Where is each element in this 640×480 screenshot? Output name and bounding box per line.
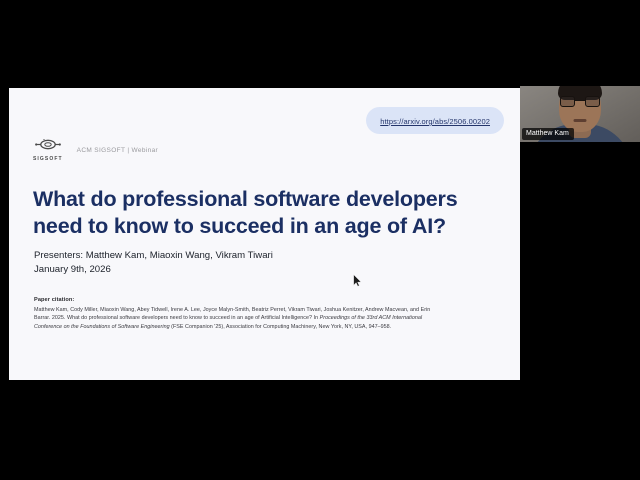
webcam-tile-matthew-kam[interactable]: Matthew Kam (520, 72, 640, 162)
sigsoft-mark-icon (35, 138, 61, 156)
brand-row: SIGSOFT ACM SIGSOFT | Webinar (33, 138, 158, 162)
mouse-pointer-icon (353, 274, 362, 287)
shared-slide[interactable]: https://arxiv.org/abs/2506.00202 SIGSOFT (9, 88, 520, 380)
presenters-line: Presenters: Matthew Kam, Miaoxin Wang, V… (34, 249, 273, 263)
webcam-letterbox-bottom (520, 142, 640, 162)
participant-name-label: Matthew Kam (522, 128, 574, 140)
citation-block: Paper citation: Matthew Kam, Cody Miller… (34, 297, 434, 332)
video-conference-stage: https://arxiv.org/abs/2506.00202 SIGSOFT (0, 0, 640, 480)
participant-mouth (574, 119, 587, 122)
presenters-block: Presenters: Matthew Kam, Miaoxin Wang, V… (34, 249, 273, 276)
citation-body: Matthew Kam, Cody Miller, Miaoxin Wang, … (34, 306, 434, 332)
citation-venue-details: (FSE Companion '25), Association for Com… (171, 324, 391, 330)
webcam-letterbox-top (520, 72, 640, 86)
slide-title: What do professional software developers… (33, 186, 473, 241)
citation-in-word: In (314, 315, 319, 321)
citation-paper-title: What do professional software developers… (67, 315, 312, 321)
paper-url-badge[interactable]: https://arxiv.org/abs/2506.00202 (366, 107, 504, 134)
brand-caption: ACM SIGSOFT | Webinar (77, 147, 158, 154)
glasses-lens-left (560, 96, 575, 107)
participant-glasses-icon (560, 96, 600, 107)
glasses-bridge (575, 100, 585, 101)
sigsoft-logo: SIGSOFT (33, 138, 63, 162)
glasses-lens-right (585, 96, 600, 107)
presentation-date: January 9th, 2026 (34, 263, 273, 277)
paper-url-link[interactable]: https://arxiv.org/abs/2506.00202 (380, 117, 490, 126)
citation-heading: Paper citation: (34, 297, 434, 303)
sigsoft-wordmark: SIGSOFT (33, 157, 63, 162)
